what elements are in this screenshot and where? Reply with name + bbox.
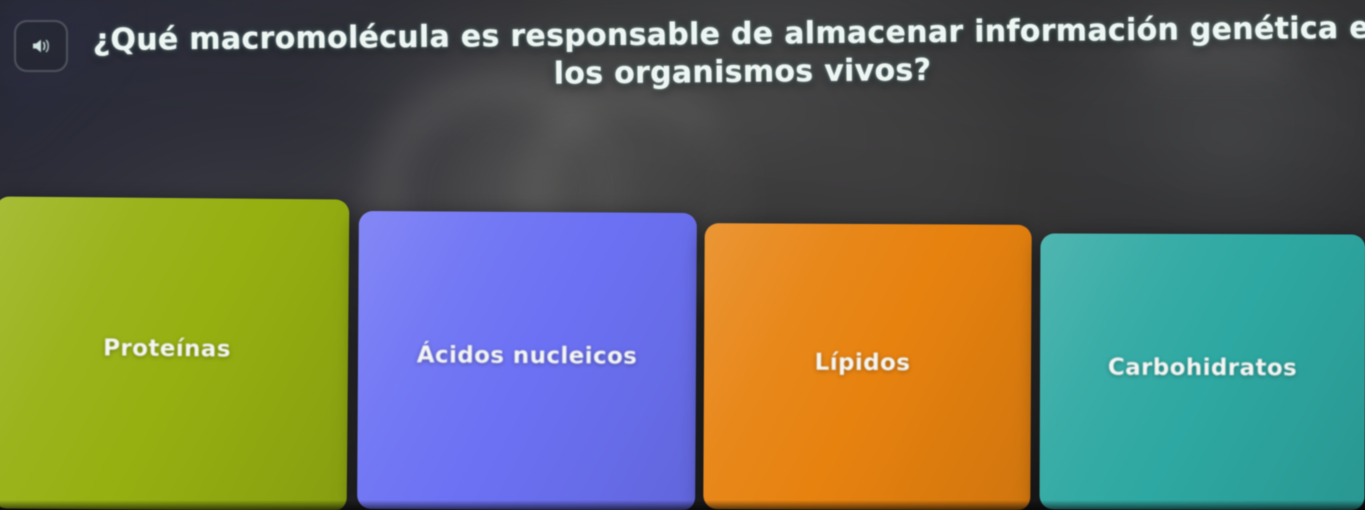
answer-tile-carbohidratos[interactable]: Carbohidratos [1040,233,1365,510]
answer-tile-lipidos[interactable]: Lípidos [703,223,1031,510]
answer-label: Lípidos [815,350,911,377]
answer-tile-proteinas[interactable]: Proteínas [0,196,349,510]
answer-tile-acidos-nucleicos[interactable]: Ácidos nucleicos [357,211,697,510]
answer-label: Proteínas [103,335,231,362]
answer-grid: Proteínas Ácidos nucleicos Lípidos Carbo… [0,0,1365,510]
answer-label: Ácidos nucleicos [417,342,638,369]
quiz-screen: ¿Qué macromolécula es responsable de alm… [0,0,1365,510]
answer-label: Carbohidratos [1108,355,1297,382]
